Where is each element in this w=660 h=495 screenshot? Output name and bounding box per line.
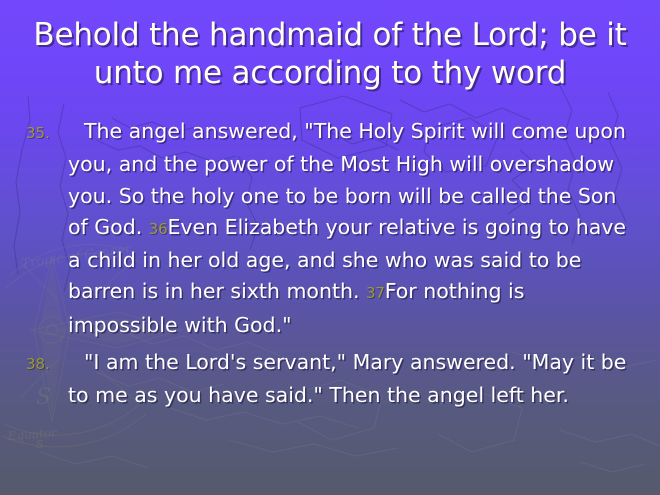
verse-number-35: 35. xyxy=(26,118,68,149)
verse-text-38: "I am the Lord's servant," Mary answered… xyxy=(68,350,626,407)
slide-body: 35.The angel answered, "The Holy Spirit … xyxy=(26,116,640,412)
svg-text:s: s xyxy=(36,434,44,452)
verse-number-38: 38. xyxy=(26,349,68,380)
verse-number-37: 37 xyxy=(366,284,385,302)
svg-text:Equator: Equator xyxy=(6,426,58,444)
verse-number-36: 36 xyxy=(149,220,168,238)
slide-title: Behold the handmaid of the Lord; be it u… xyxy=(18,16,642,92)
presentation-slide: S s Tropic of Cancer Equator Behold the … xyxy=(0,0,660,495)
scripture-paragraph-35: 35.The angel answered, "The Holy Spirit … xyxy=(26,116,640,341)
scripture-paragraph-38: 38."I am the Lord's servant," Mary answe… xyxy=(26,347,640,412)
